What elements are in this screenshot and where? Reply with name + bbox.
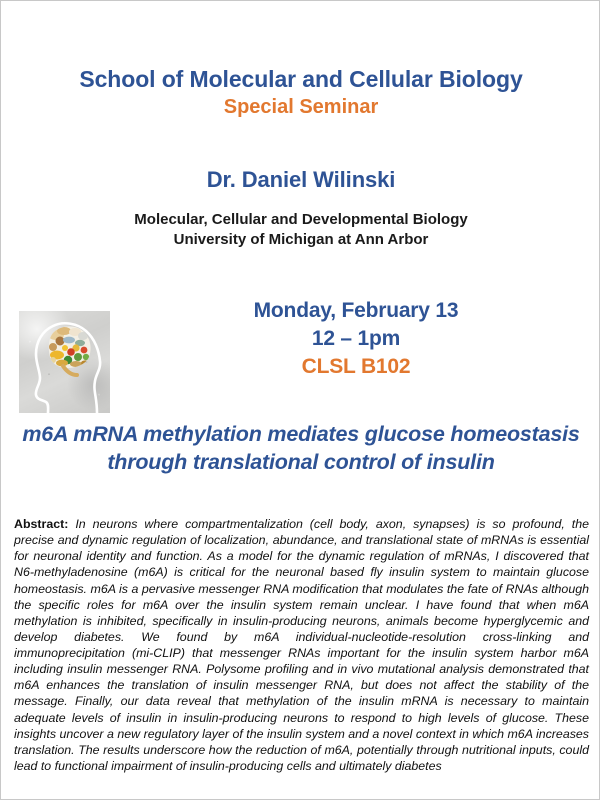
brain-food-head-photo [19, 311, 110, 413]
flyer-header: School of Molecular and Cellular Biology… [1, 67, 600, 119]
speaker-department: Molecular, Cellular and Developmental Bi… [1, 210, 600, 230]
abstract-label: Abstract: [14, 517, 68, 531]
speaker-name: Dr. Daniel Wilinski [1, 167, 600, 193]
speaker-institution: University of Michigan at Ann Arbor [1, 230, 600, 250]
seminar-subtitle: Special Seminar [1, 95, 600, 119]
event-time: 12 – 1pm [121, 325, 591, 353]
talk-title: m6A mRNA methylation mediates glucose ho… [15, 421, 587, 476]
abstract-body: In neurons where compartmentalization (c… [14, 517, 589, 773]
head-silhouette-icon [19, 311, 110, 413]
event-date: Monday, February 13 [121, 297, 591, 325]
event-location: CLSL B102 [121, 353, 591, 381]
abstract-section: Abstract: In neurons where compartmental… [14, 516, 589, 774]
speaker-affiliation: Molecular, Cellular and Developmental Bi… [1, 210, 600, 250]
school-title: School of Molecular and Cellular Biology [1, 67, 600, 93]
event-details: Monday, February 13 12 – 1pm CLSL B102 [121, 297, 591, 381]
seminar-flyer-page: School of Molecular and Cellular Biology… [0, 0, 600, 800]
